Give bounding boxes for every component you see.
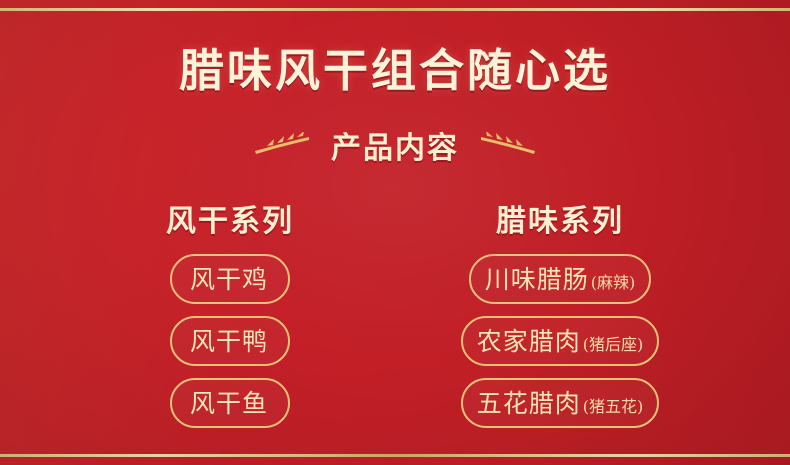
product-name: 风干鸭 — [190, 322, 268, 358]
product-item: 川味腊肠 (麻辣) — [469, 254, 652, 304]
product-name: 风干鱼 — [190, 384, 268, 420]
subtitle: 产品内容 — [331, 123, 459, 167]
product-poster: 腊味风干组合随心选 产品内容 — [0, 0, 790, 465]
column-title: 风干系列 — [166, 196, 294, 240]
product-note: (猪后座) — [583, 331, 644, 355]
product-name: 川味腊肠 — [485, 260, 589, 296]
column-title: 腊味系列 — [496, 196, 624, 240]
product-columns: 风干系列 风干鸡 风干鸭 风干鱼 腊味系列 川味腊肠 (麻辣) 农家腊肉 — [0, 196, 790, 440]
product-name: 风干鸡 — [190, 260, 268, 296]
product-item: 风干鸭 — [170, 316, 290, 366]
column-lawei: 腊味系列 川味腊肠 (麻辣) 农家腊肉 (猪后座) 五花腊肉 (猪五花) — [395, 196, 725, 440]
page-title: 腊味风干组合随心选 — [0, 34, 790, 99]
wheat-right-icon — [477, 132, 537, 158]
product-item: 风干鸡 — [170, 254, 290, 304]
product-item: 五花腊肉 (猪五花) — [461, 378, 660, 428]
product-note: (麻辣) — [591, 269, 636, 293]
top-gold-divider — [0, 8, 790, 11]
product-item: 农家腊肉 (猪后座) — [461, 316, 660, 366]
product-name: 农家腊肉 — [477, 322, 581, 358]
product-note: (猪五花) — [583, 393, 644, 417]
wheat-left-icon — [253, 132, 313, 158]
product-name: 五花腊肉 — [477, 384, 581, 420]
product-item: 风干鱼 — [170, 378, 290, 428]
column-fenggan: 风干系列 风干鸡 风干鸭 风干鱼 — [65, 196, 395, 440]
subtitle-row: 产品内容 — [0, 123, 790, 167]
bottom-gold-divider — [0, 454, 790, 457]
